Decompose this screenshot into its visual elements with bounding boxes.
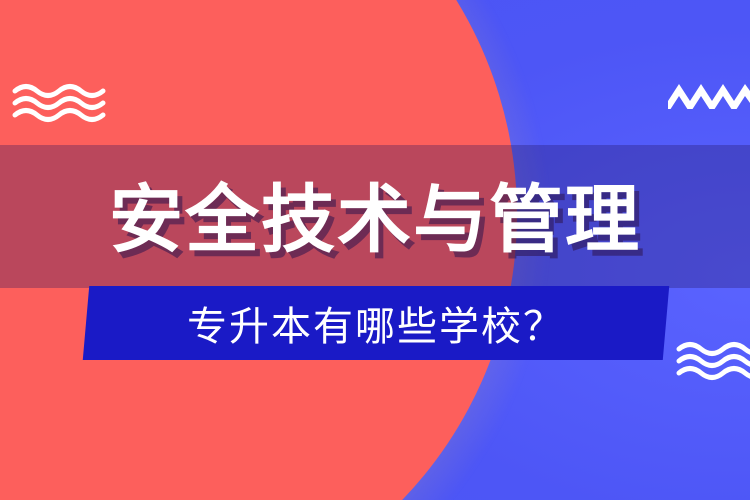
promo-banner: 安全技术与管理 专升本有哪些学校？ [0, 0, 750, 500]
banner-title: 安全技术与管理 [0, 176, 750, 264]
waves-bottom-right-icon [676, 340, 750, 382]
banner-subtitle: 专升本有哪些学校？ [86, 286, 666, 360]
waves-top-left-icon [12, 82, 108, 124]
zigzag-top-right-icon [668, 75, 750, 109]
